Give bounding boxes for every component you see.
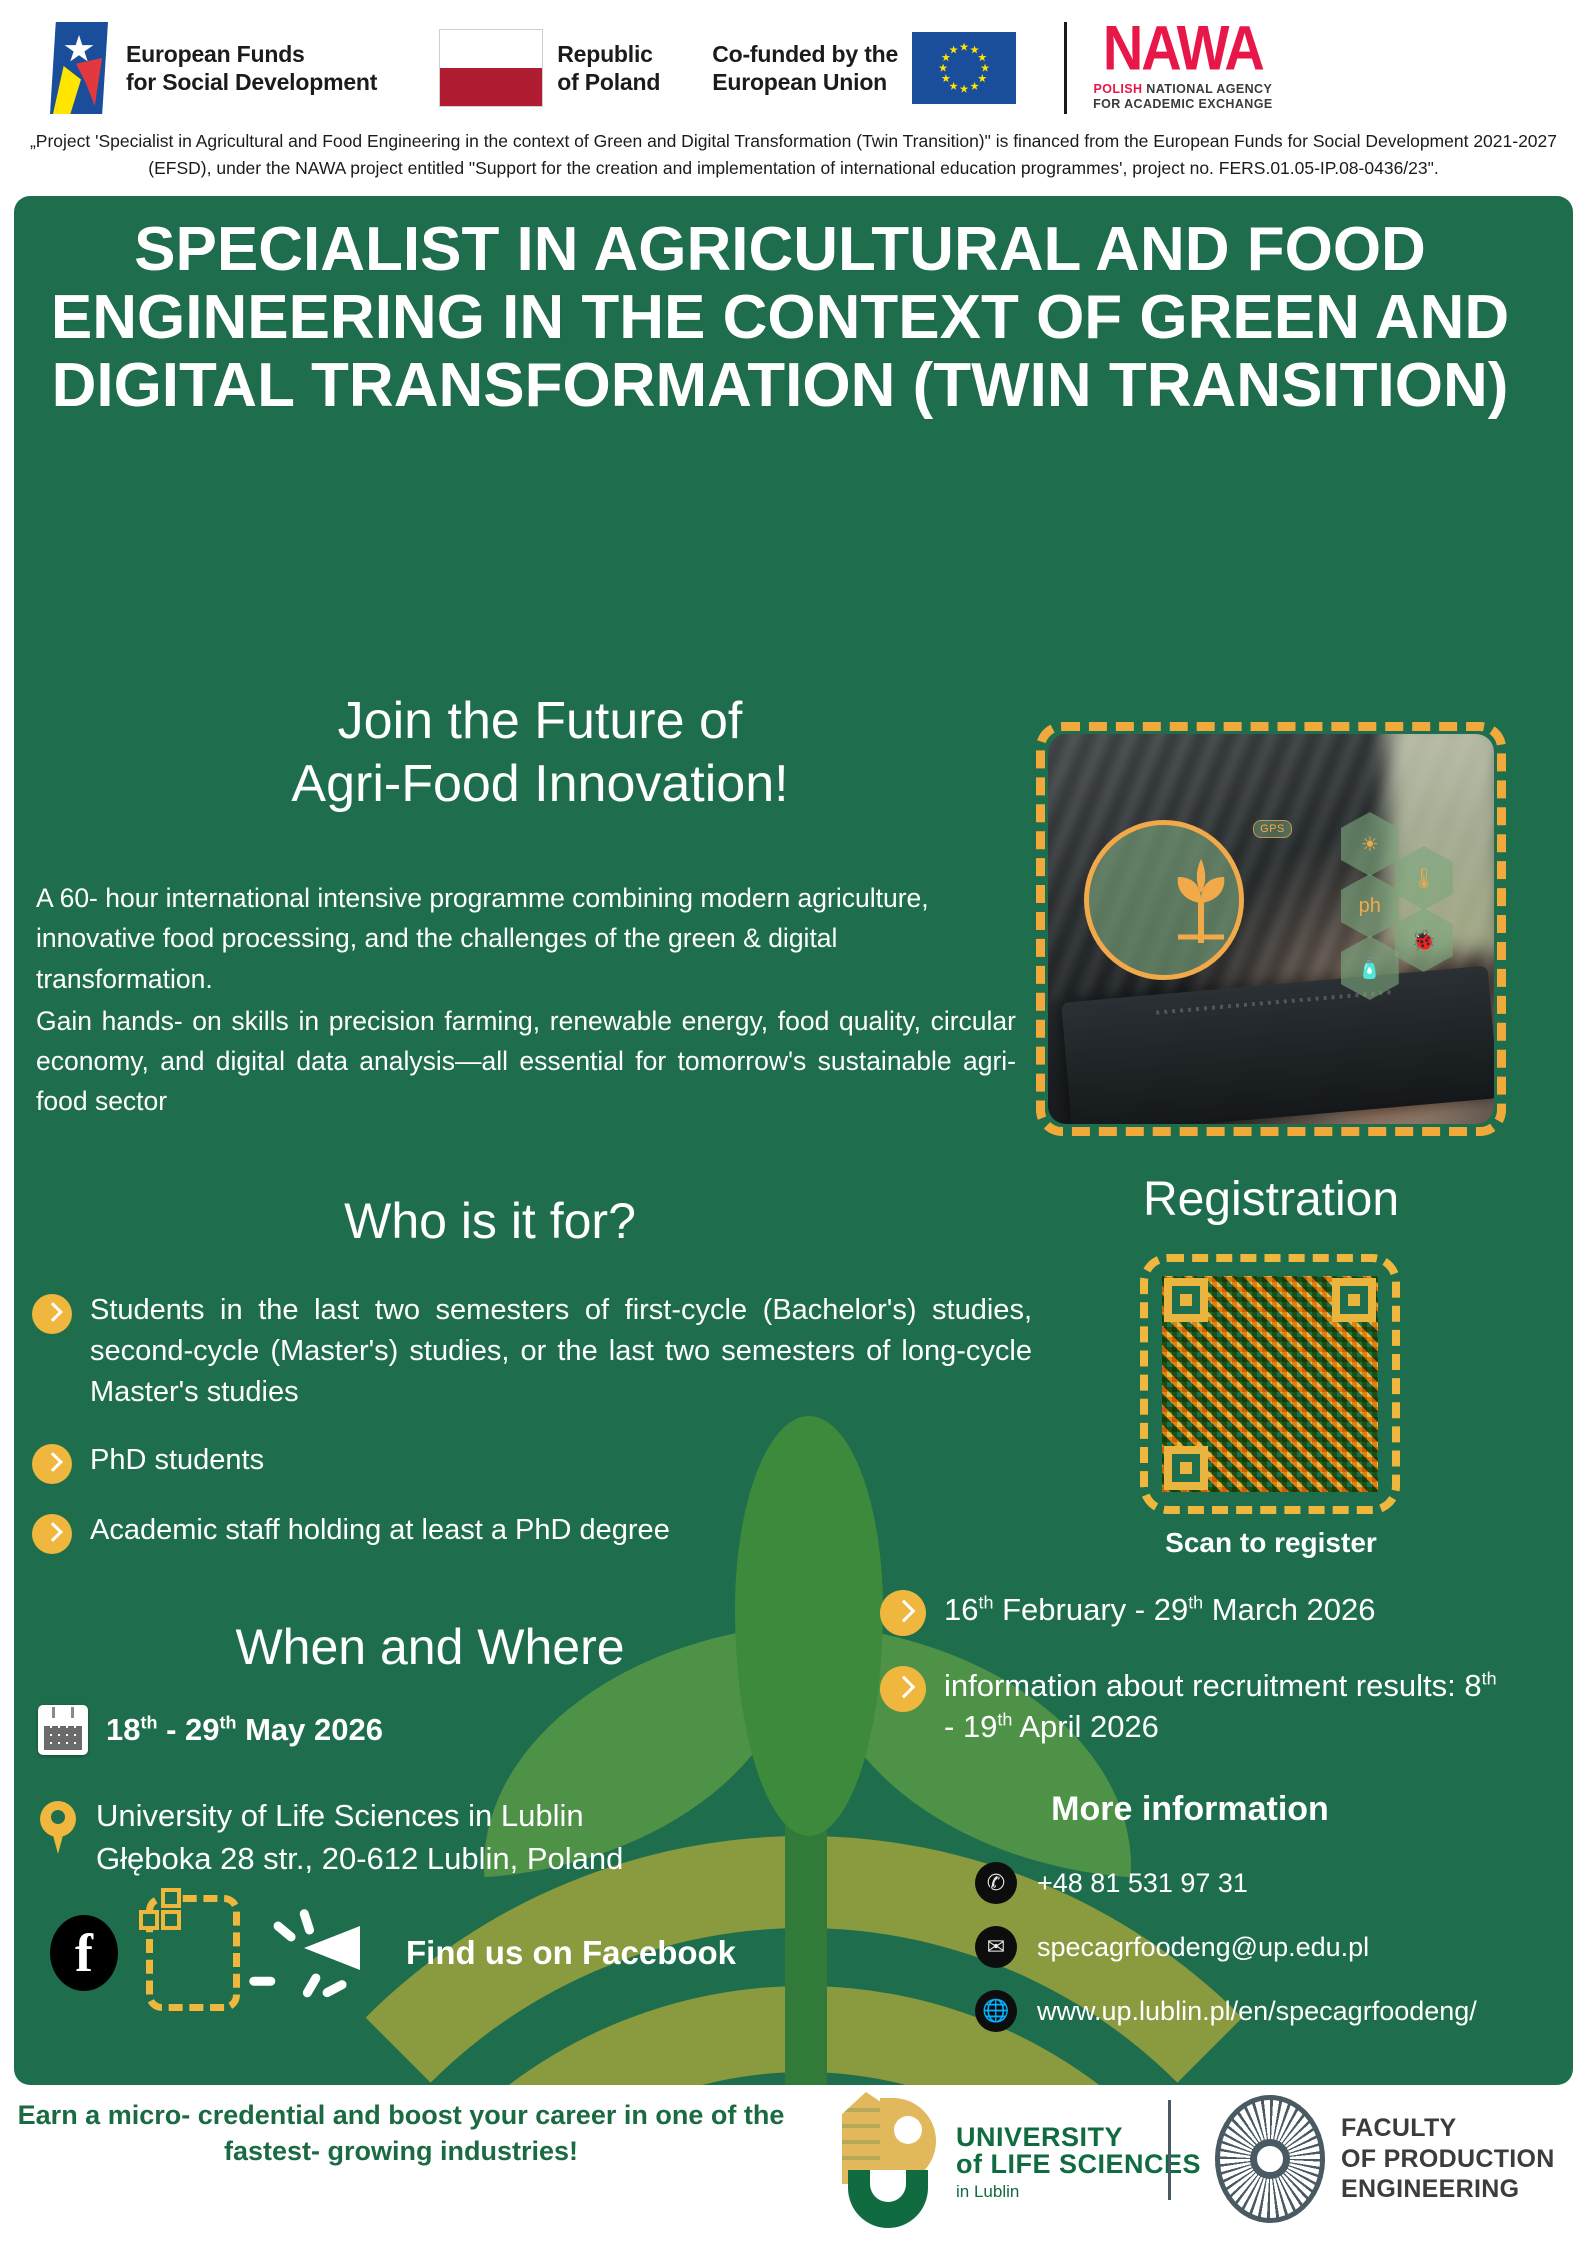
qr-finder-top-left [1164, 1278, 1208, 1322]
up-logo-wordmark: UNIVERSITY of LIFE SCIENCES in Lublin [956, 2124, 1201, 2200]
footer-claim-text: Earn a micro- credential and boost your … [16, 2098, 786, 2169]
faculty-line-3: ENGINEERING [1341, 2174, 1555, 2205]
nawa-logo: NAWA POLISH NATIONAL AGENCY FOR ACADEMIC… [1093, 25, 1272, 111]
audience-item-1: Students in the last two semesters of fi… [90, 1290, 1032, 1414]
event-location-text: University of Life Sciences in Lublin Gł… [96, 1795, 623, 1881]
recruitment-results-text: information about recruitment results: 8… [944, 1666, 1500, 1748]
eu-flag-icon [912, 32, 1016, 104]
european-funds-label: European Funds for Social Development [126, 40, 377, 96]
when-and-where-heading: When and Where [60, 1618, 800, 1676]
subtitle-line-2: Agri-Food Innovation! [60, 753, 1020, 816]
republic-of-poland-logo: Republic of Poland [439, 29, 660, 107]
audience-item-2: PhD students [90, 1440, 264, 1484]
faculty-line-2: OF PRODUCTION [1341, 2144, 1555, 2175]
sensor-hex-group: ☀ 🌡 ph 🐞 🧴 [1303, 812, 1463, 992]
university-of-life-sciences-logo: UNIVERSITY of LIFE SCIENCES in Lublin [840, 2092, 1201, 2232]
list-item: information about recruitment results: 8… [880, 1666, 1500, 1748]
chevron-right-icon [32, 1514, 72, 1554]
subtitle-line-1: Join the Future of [60, 690, 1020, 753]
hero-photo: GPS ☀ 🌡 ph 🐞 🧴 [1036, 722, 1506, 1136]
chevron-right-icon [880, 1666, 926, 1712]
nawa-subtitle-line2: FOR ACADEMIC EXCHANGE [1093, 97, 1272, 111]
logo-divider [1064, 22, 1067, 114]
spray-hex-icon: 🧴 [1341, 936, 1399, 1000]
facebook-qr-code[interactable] [146, 1895, 240, 2011]
chevron-right-icon [32, 1444, 72, 1484]
cofunded-eu-logo: Co-funded by the European Union [712, 32, 1016, 104]
list-item: Academic staff holding at least a PhD de… [32, 1510, 1032, 1554]
description-paragraph-1: A 60- hour international intensive progr… [36, 878, 1016, 999]
list-item: Students in the last two semesters of fi… [32, 1290, 1032, 1414]
chevron-right-icon [32, 1294, 72, 1334]
phone-icon: ✆ [975, 1862, 1017, 1904]
up-line-3: in Lublin [956, 2183, 1201, 2200]
sun-sensor-hex-icon: ☀ [1341, 812, 1399, 876]
republic-of-poland-label: Republic of Poland [557, 40, 660, 96]
description-paragraph-2: Gain hands- on skills in precision farmi… [36, 1001, 1016, 1122]
recruitment-period-text: 16th February - 29th March 2026 [944, 1590, 1376, 1636]
calendar-icon [38, 1705, 88, 1755]
contact-phone-value: +48 81 531 97 31 [1037, 1868, 1248, 1899]
contact-website-value: www.up.lublin.pl/en/specagrfoodeng/ [1037, 1996, 1477, 2027]
poland-flag-icon [439, 29, 543, 107]
event-location-row: University of Life Sciences in Lublin Gł… [38, 1795, 623, 1881]
registration-qr-code[interactable] [1140, 1254, 1400, 1514]
european-funds-logo: European Funds for Social Development [50, 22, 377, 114]
up-line-1: UNIVERSITY [956, 2124, 1201, 2152]
top-logo-bar: European Funds for Social Development Re… [0, 0, 1587, 128]
faculty-of-production-engineering-logo: FACULTY OF PRODUCTION ENGINEERING [1215, 2095, 1555, 2223]
click-cursor-icon [268, 1908, 378, 1998]
gps-badge: GPS [1253, 820, 1292, 838]
who-is-it-for-heading: Who is it for? [120, 1192, 860, 1250]
facebook-row[interactable]: Find us on Facebook [50, 1895, 736, 2011]
sprout-icon [1164, 859, 1238, 945]
page-subtitle: Join the Future of Agri-Food Innovation! [60, 690, 1020, 817]
faculty-emblem-icon [1215, 2095, 1325, 2223]
audience-item-3: Academic staff holding at least a PhD de… [90, 1510, 670, 1554]
location-line-1: University of Life Sciences in Lublin [96, 1795, 623, 1838]
qr-finder-bottom-left [1164, 1446, 1208, 1490]
faculty-wordmark: FACULTY OF PRODUCTION ENGINEERING [1341, 2113, 1555, 2205]
list-item: 16th February - 29th March 2026 [880, 1590, 1500, 1636]
location-line-2: Głęboka 28 str., 20-612 Lublin, Poland [96, 1838, 623, 1881]
hero-photo-image: GPS ☀ 🌡 ph 🐞 🧴 [1048, 734, 1494, 1124]
thermometer-hex-icon: 🌡 [1395, 846, 1453, 910]
envelope-icon: ✉ [975, 1926, 1017, 1968]
recruitment-dates-list: 16th February - 29th March 2026 informat… [880, 1590, 1500, 1778]
chevron-right-icon [880, 1590, 926, 1636]
page-title: SPECIALIST IN AGRICULTURAL AND FOOD ENGI… [40, 216, 1520, 421]
nawa-wordmark: NAWA [1103, 22, 1263, 73]
european-funds-icon [50, 22, 112, 114]
nawa-polish-word: POLISH [1093, 82, 1142, 96]
footer-divider [1168, 2100, 1171, 2200]
contact-email-row[interactable]: ✉ specagrfoodeng@up.edu.pl [975, 1926, 1587, 1968]
ph-meter-hex-icon: ph [1341, 874, 1399, 938]
contact-phone-row[interactable]: ✆ +48 81 531 97 31 [975, 1862, 1587, 1904]
nawa-subtitle-line1: POLISH NATIONAL AGENCY [1093, 82, 1272, 96]
contact-email-value: specagrfoodeng@up.edu.pl [1037, 1932, 1369, 1963]
contact-website-row[interactable]: 🌐 www.up.lublin.pl/en/specagrfoodeng/ [975, 1990, 1587, 2032]
find-us-on-facebook-label: Find us on Facebook [406, 1934, 736, 1972]
map-pin-icon [38, 1801, 78, 1857]
facebook-icon[interactable] [50, 1915, 118, 1991]
qr-code-image[interactable] [1162, 1276, 1378, 1492]
qr-finder-top-right [1332, 1278, 1376, 1322]
up-line-2: of LIFE SCIENCES [956, 2151, 1201, 2179]
who-is-it-for-list: Students in the last two semesters of fi… [32, 1290, 1032, 1580]
funding-disclaimer: „Project 'Specialist in Agricultural and… [26, 128, 1561, 181]
plant-stem [785, 1756, 827, 2085]
poster-root: European Funds for Social Development Re… [0, 0, 1587, 2245]
pest-hex-icon: 🐞 [1395, 908, 1453, 972]
contact-list: ✆ +48 81 531 97 31 ✉ specagrfoodeng@up.e… [975, 1862, 1587, 2054]
registration-heading: Registration [1036, 1172, 1506, 1227]
list-item: PhD students [32, 1440, 1032, 1484]
nawa-agency-word: NATIONAL AGENCY [1142, 82, 1272, 96]
event-date-row: 18th - 29th May 2026 [38, 1705, 383, 1755]
up-logo-mark-icon [840, 2092, 940, 2232]
event-date-text: 18th - 29th May 2026 [106, 1712, 383, 1748]
programme-description: A 60- hour international intensive progr… [36, 878, 1016, 1122]
scan-to-register-label: Scan to register [1036, 1527, 1506, 1559]
cofunded-eu-label: Co-funded by the European Union [712, 40, 898, 96]
globe-icon: 🌐 [975, 1990, 1017, 2032]
faculty-line-1: FACULTY [1341, 2113, 1555, 2144]
more-information-heading: More information [880, 1790, 1500, 1829]
